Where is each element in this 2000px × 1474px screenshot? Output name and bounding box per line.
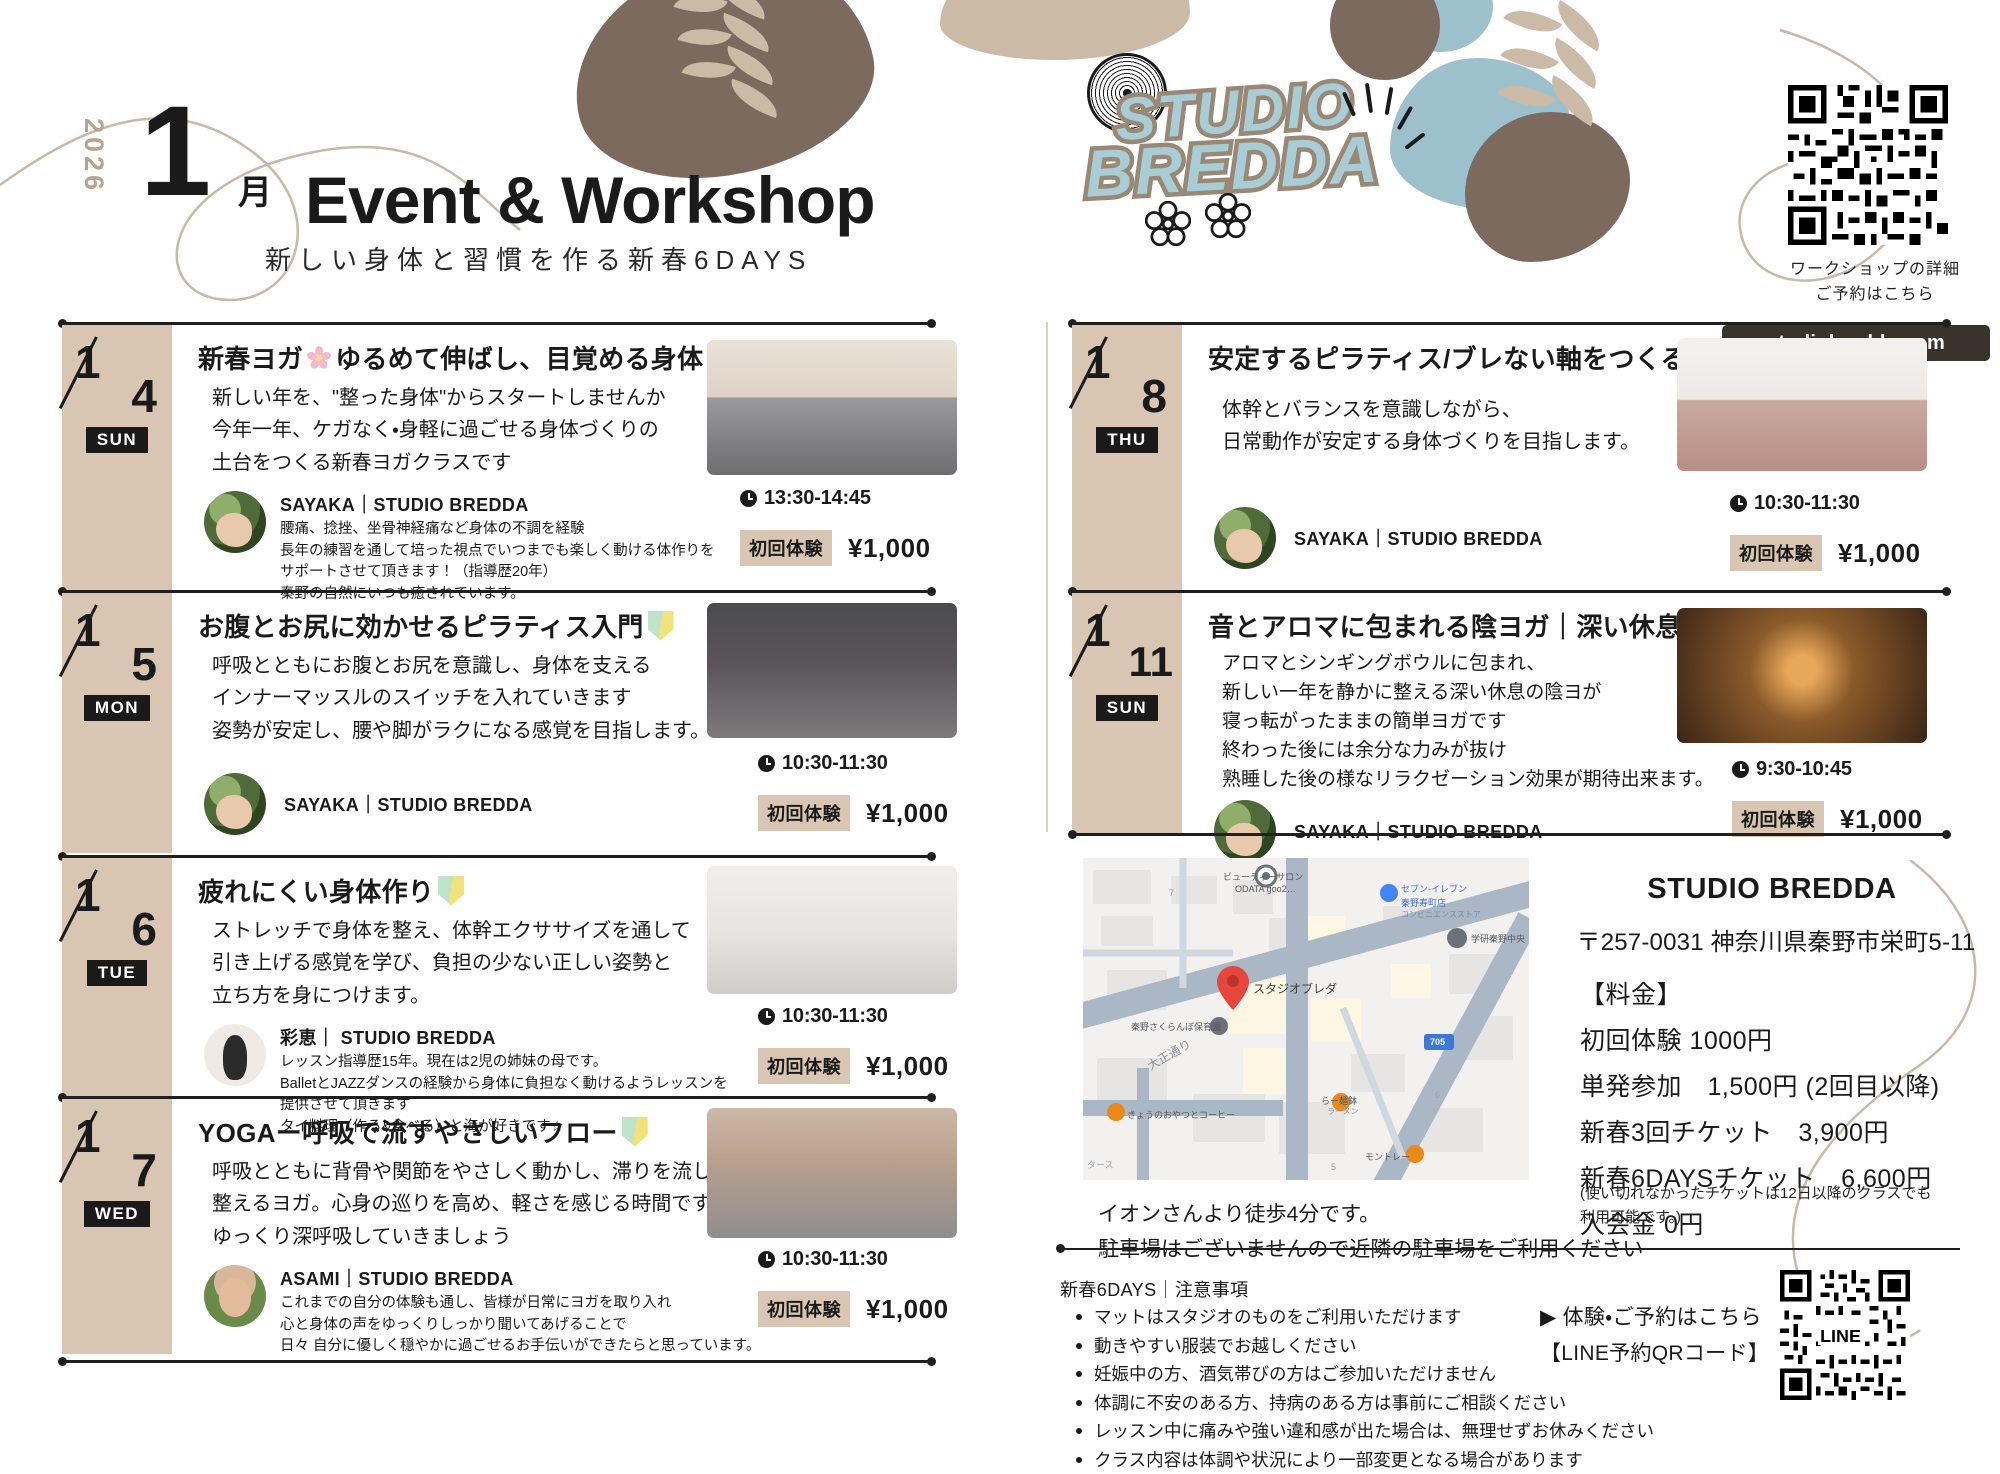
page-subtitle: 新しい身体と習慣を作る新春6DAYS bbox=[265, 240, 812, 277]
instructor-name: SAYAKA｜STUDIO BREDDA bbox=[1294, 525, 1543, 551]
column-divider bbox=[1046, 322, 1048, 832]
event-price: 初回体験 ¥1,000 bbox=[758, 1291, 949, 1327]
list-item: レッスン中に痛みや強い違和感が出た場合は、無理せずお休みください bbox=[1072, 1417, 1654, 1446]
price-value: ¥1,000 bbox=[848, 533, 931, 564]
price-tag-label: 初回体験 bbox=[758, 795, 850, 831]
event-time: 10:30-11:30 bbox=[1730, 492, 1921, 515]
event-weekday: SUN bbox=[86, 427, 148, 453]
price-heading: 【料金】 bbox=[1580, 972, 1940, 1018]
event-day: 11 bbox=[1129, 641, 1173, 683]
event-weekday: THU bbox=[1096, 427, 1157, 453]
avatar bbox=[1214, 800, 1276, 862]
map-label: きょうのおやつとコーヒー bbox=[1127, 1108, 1235, 1121]
notes-divider bbox=[1060, 1248, 1960, 1250]
event-weekday: SUN bbox=[1096, 695, 1158, 721]
event-title-text: お腹とお尻に効かせるピラティス入門 bbox=[198, 607, 644, 644]
event-thumbnail bbox=[707, 866, 957, 994]
card-divider bbox=[1072, 833, 1947, 836]
month-unit-label: 月 bbox=[238, 165, 272, 214]
event-day: 6 bbox=[131, 906, 157, 952]
event-month: 1 bbox=[75, 339, 101, 385]
event-title-text: YOGAー呼吸で流すやさしいフロー bbox=[198, 1113, 618, 1150]
event-day: 5 bbox=[131, 641, 157, 687]
map-label: 大正通り bbox=[1144, 1035, 1194, 1074]
map-label: コンビニエンスストア bbox=[1401, 909, 1481, 920]
event-day: 4 bbox=[131, 373, 157, 419]
event-weekday: TUE bbox=[87, 960, 148, 986]
event-meta: 10:30-11:30 初回体験 ¥1,000 bbox=[758, 1005, 949, 1084]
map-label: ODATA goo2… bbox=[1235, 884, 1296, 894]
line-qr-label: LINE bbox=[1820, 1326, 1861, 1346]
map-label: 学研秦野中央 bbox=[1471, 932, 1525, 945]
clock-icon bbox=[758, 755, 775, 772]
sakura-icon bbox=[307, 346, 331, 370]
instructor-name: ASAMI｜STUDIO BREDDA bbox=[280, 1265, 760, 1291]
event-price: 初回体験 ¥1,000 bbox=[1730, 535, 1921, 571]
avatar bbox=[204, 773, 266, 835]
price-tag-label: 初回体験 bbox=[1732, 801, 1824, 837]
event-title-tail: ゆるめて伸ばし、目覚める身体 bbox=[335, 339, 703, 376]
map-label-layer: ビューティーサロン ODATA goo2… セブン-イレブン 秦野寿町店 コンビ… bbox=[1083, 858, 1529, 1180]
avatar bbox=[204, 1265, 266, 1327]
event-meta: 10:30-11:30 初回体験 ¥1,000 bbox=[758, 1248, 949, 1327]
instructor-name: SAYAKA｜STUDIO BREDDA bbox=[1294, 818, 1543, 844]
event-month: 1 bbox=[1085, 607, 1111, 653]
avatar bbox=[1214, 507, 1276, 569]
year-label: 2026 bbox=[78, 118, 109, 194]
notes-title: 新春6DAYS｜注意事項 bbox=[1060, 1276, 1249, 1302]
price-item: 新春3回チケット 3,900円 bbox=[1580, 1110, 1940, 1156]
event-time: 13:30-14:45 bbox=[740, 487, 931, 510]
event-title-text: 安定するピラティス/ブレない軸をつくる bbox=[1208, 339, 1687, 376]
event-price: 初回体験 ¥1,000 bbox=[758, 1048, 949, 1084]
event-thumbnail bbox=[1677, 338, 1927, 471]
divider-dot bbox=[1056, 1244, 1065, 1253]
clock-icon bbox=[758, 1251, 775, 1268]
map-label: モントレー bbox=[1365, 1150, 1410, 1163]
event-month: 1 bbox=[75, 607, 101, 653]
map-label: 705 bbox=[1430, 1037, 1445, 1047]
clock-icon bbox=[1730, 495, 1747, 512]
price-tag-label: 初回体験 bbox=[740, 530, 832, 566]
event-date-block: 1 8 THU bbox=[1072, 325, 1182, 590]
price-tag-label: 初回体験 bbox=[758, 1291, 850, 1327]
event-date-block: 1 6 TUE bbox=[62, 858, 172, 1096]
event-date-block: 1 7 WED bbox=[62, 1099, 172, 1354]
studio-logo: STUDIO BREDDA bbox=[1085, 75, 1415, 250]
event-thumbnail bbox=[707, 1108, 957, 1238]
event-time: 10:30-11:30 bbox=[758, 1005, 949, 1028]
price-item: 単発参加 1,500円 (2回目以降) bbox=[1580, 1064, 1940, 1110]
map-label: 秦野さくらんぼ保育園 bbox=[1131, 1020, 1221, 1033]
price-tag-label: 初回体験 bbox=[1730, 535, 1822, 571]
event-time: 9:30-10:45 bbox=[1732, 758, 1923, 781]
event-title-text: 新春ヨガ bbox=[198, 339, 303, 376]
event-meta: 10:30-11:30 初回体験 ¥1,000 bbox=[1730, 492, 1921, 571]
event-weekday: WED bbox=[84, 1201, 150, 1227]
instructor-name: SAYAKA｜STUDIO BREDDA bbox=[284, 791, 533, 817]
map-label: 5 bbox=[1331, 1162, 1336, 1172]
event-thumbnail bbox=[707, 603, 957, 738]
event-date-block: 1 11 SUN bbox=[1072, 593, 1182, 833]
beginner-badge-icon bbox=[622, 1117, 648, 1147]
price-value: ¥1,000 bbox=[866, 1051, 949, 1082]
beginner-badge-icon bbox=[648, 611, 674, 641]
studio-address: 〒257-0031 神奈川県秦野市栄町5-11 bbox=[1556, 922, 1996, 957]
flower-icon-2 bbox=[1205, 193, 1251, 239]
map-label: 7 bbox=[1169, 888, 1174, 898]
beginner-badge-icon bbox=[438, 876, 464, 906]
event-day: 8 bbox=[1141, 373, 1167, 419]
event-time: 10:30-11:30 bbox=[758, 752, 949, 775]
price-tag-label: 初回体験 bbox=[758, 1048, 850, 1084]
clock-icon bbox=[1732, 761, 1749, 778]
month-number: 1 bbox=[140, 88, 211, 216]
event-meta: 10:30-11:30 初回体験 ¥1,000 bbox=[758, 752, 949, 831]
access-info: イオンさんより徒歩4分です。 駐車場はございませんので近隣の駐車場をご利用くださ… bbox=[1098, 1198, 1643, 1267]
location-map[interactable]: ビューティーサロン ODATA goo2… セブン-イレブン 秦野寿町店 コンビ… bbox=[1083, 858, 1529, 1180]
map-label: 秦野寿町店 bbox=[1401, 896, 1446, 909]
price-value: ¥1,000 bbox=[866, 798, 949, 829]
event-price: 初回体験 ¥1,000 bbox=[740, 530, 931, 566]
event-day: 7 bbox=[131, 1147, 157, 1193]
event-price: 初回体験 ¥1,000 bbox=[758, 795, 949, 831]
event-date-block: 1 4 SUN bbox=[62, 325, 172, 590]
event-date-block: 1 5 MON bbox=[62, 593, 172, 853]
clock-icon bbox=[740, 490, 757, 507]
event-month: 1 bbox=[1085, 339, 1111, 385]
event-meta: 13:30-14:45 初回体験 ¥1,000 bbox=[740, 487, 931, 566]
map-label: ラーメン bbox=[1327, 1106, 1359, 1117]
avatar bbox=[204, 1024, 266, 1086]
map-label: 6 bbox=[1435, 1090, 1440, 1100]
event-thumbnail bbox=[1677, 608, 1927, 743]
event-title-text: 疲れにくい身体作り bbox=[198, 872, 434, 909]
map-label: タース bbox=[1087, 1158, 1114, 1171]
price-value: ¥1,000 bbox=[866, 1294, 949, 1325]
instructor-bio: これまでの自分の体験も通し、皆様が日常にヨガを取り入れ 心と身体の声をゆっくりし… bbox=[280, 1293, 760, 1357]
workshop-qr-code[interactable] bbox=[1788, 85, 1948, 245]
reservation-cta: ▶ 体験・ご予約はこちら 【LINE予約QRコード】 bbox=[1540, 1300, 1769, 1371]
qr-caption: ワークショップの詳細 ご予約はこちら bbox=[1760, 258, 1990, 308]
instructor-name: SAYAKA｜STUDIO BREDDA bbox=[280, 491, 715, 517]
map-pin-label: スタジオブレダ bbox=[1253, 980, 1337, 997]
event-month: 1 bbox=[75, 1113, 101, 1159]
price-item: 初回体験 1000円 bbox=[1580, 1018, 1940, 1064]
price-value: ¥1,000 bbox=[1840, 804, 1923, 835]
flower-icon-1 bbox=[1145, 201, 1191, 247]
list-item: クラス内容は体調や状況により一部変更となる場合があります bbox=[1072, 1446, 1654, 1474]
price-value: ¥1,000 bbox=[1838, 538, 1921, 569]
price-note: (使い切れなかったチケットは12日以降のクラスでも 利用可能です。) bbox=[1580, 1182, 1931, 1230]
event-meta: 9:30-10:45 初回体験 ¥1,000 bbox=[1732, 758, 1923, 837]
event-month: 1 bbox=[75, 872, 101, 918]
event-weekday: MON bbox=[84, 695, 150, 721]
event-price: 初回体験 ¥1,000 bbox=[1732, 801, 1923, 837]
card-divider bbox=[62, 1360, 932, 1363]
line-reservation-qr-code[interactable]: LINE bbox=[1780, 1270, 1910, 1400]
avatar bbox=[204, 491, 266, 553]
map-label: セブン-イレブン bbox=[1401, 882, 1467, 895]
event-time: 10:30-11:30 bbox=[758, 1248, 949, 1271]
map-label: ビューティーサロン bbox=[1223, 870, 1303, 883]
list-item: 体調に不安のある方、持病のある方は事前にご相談ください bbox=[1072, 1389, 1654, 1418]
event-thumbnail bbox=[707, 340, 957, 475]
clock-icon bbox=[758, 1008, 775, 1025]
studio-name: STUDIO BREDDA bbox=[1562, 873, 1982, 906]
page-title: Event & Workshop bbox=[305, 162, 875, 238]
flyer-page: 2026 1 月 Event & Workshop 新しい身体と習慣を作る新春6… bbox=[0, 0, 2000, 1414]
instructor-name: 彩恵｜ STUDIO BREDDA bbox=[280, 1024, 728, 1050]
